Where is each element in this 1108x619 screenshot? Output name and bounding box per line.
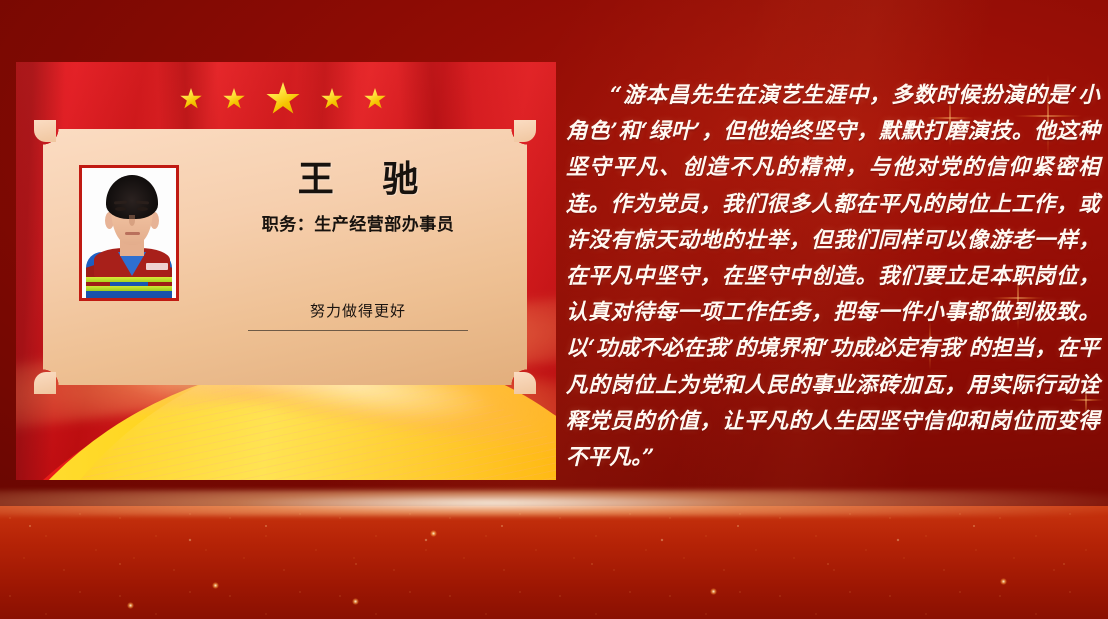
particle-dot (1000, 578, 1007, 585)
particle-dot (710, 588, 717, 595)
photo-mouth (125, 232, 140, 235)
star-icon (321, 88, 343, 110)
employee-name: 王 驰 (208, 160, 508, 200)
quote-paragraph: “游本昌先生在演艺生涯中，多数时候扮演的是‘小角色’和‘绿叶’，但他始终坚守，默… (566, 78, 1100, 476)
particle-dot (127, 602, 134, 609)
photo-uniform-logo (146, 263, 168, 270)
star-icon (266, 82, 300, 116)
star-icon (223, 88, 245, 110)
employee-identity-block: 王 驰 职务：生产经营部办事员 (208, 160, 508, 235)
horizon-glow-line (0, 490, 1108, 516)
card-corner-tab-bottom-right (514, 372, 536, 394)
particle-dot (352, 598, 359, 605)
photo-eye-left (115, 207, 126, 211)
photo-nose (129, 215, 135, 226)
card-corner-tab-top-left (34, 120, 56, 142)
star-icon (364, 88, 386, 110)
star-icon (180, 88, 202, 110)
bottom-horizon-area (0, 470, 1108, 619)
particle-field-large (0, 506, 1108, 619)
employee-photo (79, 165, 179, 301)
photo-reflective-stripe (86, 286, 172, 291)
photo-reflective-stripe (86, 277, 172, 282)
employee-motto: 努力做得更好 (248, 300, 468, 331)
particle-dot (430, 530, 437, 537)
particle-dot (212, 582, 219, 589)
photo-eye-right (137, 207, 148, 211)
star-rating-row (180, 82, 386, 116)
card-corner-tab-bottom-left (34, 372, 56, 394)
slide-stage: 王 驰 职务：生产经营部办事员 努力做得更好 “游本昌先生在演艺生涯中，多数时候… (0, 0, 1108, 619)
employee-title: 职务：生产经营部办事员 (208, 210, 508, 235)
